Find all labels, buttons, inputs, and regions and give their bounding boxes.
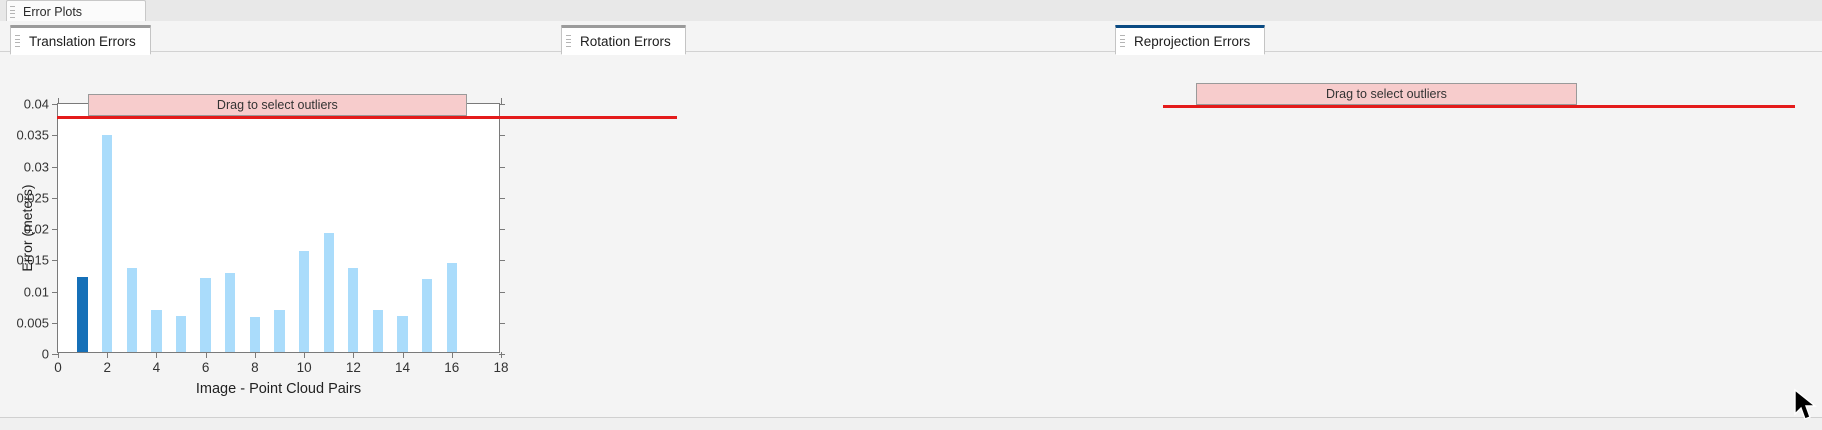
bar[interactable] [348,268,358,352]
panel-translation-errors: Translation Errors 00.0050.010.0150.020.… [0,21,551,430]
y-axis-tick [52,167,58,168]
bar[interactable] [324,233,334,352]
y-axis-tick [499,292,505,293]
y-axis-tick-label: 0.005 [16,315,49,330]
x-axis-tick [403,352,404,358]
y-axis-tick [52,260,58,261]
y-axis-tick-label: 0 [42,347,49,362]
drag-grip-icon[interactable] [1120,35,1125,47]
tab-error-plots[interactable]: Error Plots [6,0,146,22]
bar[interactable] [77,277,87,352]
bars-translation-errors[interactable] [58,104,499,352]
x-axis-tick [107,352,108,358]
y-axis-tick [52,229,58,230]
y-axis-tick [52,292,58,293]
x-axis-tick-label: 0 [54,360,62,375]
error-plots-window: Error Plots Translation Errors 00.0050.0… [0,0,1822,430]
y-axis-tick [499,198,505,199]
x-axis-tick [304,352,305,358]
bar[interactable] [373,310,383,352]
bar[interactable] [151,310,161,352]
drag-grip-icon[interactable] [566,35,571,47]
tab-error-plots-label: Error Plots [23,5,82,19]
x-axis-tick [501,98,502,104]
drag-grip-icon[interactable] [15,35,20,47]
bar[interactable] [299,251,309,352]
threshold-line-rotation[interactable] [1163,105,1795,108]
tab-translation-errors-label: Translation Errors [29,34,136,49]
axes-translation-errors[interactable]: 00.0050.010.0150.020.0250.030.0350.04024… [57,103,500,353]
tab-reprojection-errors-label: Reprojection Errors [1134,34,1250,49]
x-axis-tick-label: 14 [395,360,410,375]
bar[interactable] [274,310,284,353]
x-axis-tick [58,352,59,358]
bar[interactable] [102,135,112,352]
x-axis-tick [206,352,207,358]
panel-2-tab-row: Rotation Errors [551,21,1105,52]
bar[interactable] [397,316,407,352]
x-axis-tick [452,352,453,358]
status-bar [0,417,1822,430]
x-axis-title-translation: Image - Point Cloud Pairs [196,381,361,397]
x-axis-tick [156,352,157,358]
plot-translation-errors: 00.0050.010.0150.020.0250.030.0350.04024… [0,51,551,430]
bar[interactable] [250,317,260,352]
panel-rotation-errors: Rotation Errors 00.511.522.533.502468101… [551,21,1105,430]
x-axis-tick [353,352,354,358]
y-axis-tick-label: 0.03 [24,159,49,174]
y-axis-tick-label: 0.035 [16,128,49,143]
bar[interactable] [447,263,457,352]
panel-3-tab-row: Reprojection Errors [1105,21,1822,52]
tab-rotation-errors-label: Rotation Errors [580,34,671,49]
outlier-drag-band-rotation[interactable]: Drag to select outliers [1196,83,1578,105]
x-axis-tick-label: 4 [153,360,161,375]
panel-container: Translation Errors 00.0050.010.0150.020.… [0,21,1822,430]
threshold-line-translation[interactable] [57,116,677,119]
y-axis-tick-label: 0.01 [24,284,49,299]
y-axis-tick [52,135,58,136]
outer-tab-strip: Error Plots [0,0,1822,22]
bar[interactable] [225,273,235,352]
panel-1-tab-row: Translation Errors [0,21,551,52]
x-axis-tick-label: 18 [493,360,508,375]
outlier-drag-band-translation[interactable]: Drag to select outliers [88,94,467,116]
y-axis-title-translation: Error (meters) [19,184,35,271]
plot-rotation-errors: 00.511.522.533.5024681012141618 Drag to … [551,51,1105,430]
y-axis-tick [499,354,505,355]
y-axis-tick-label: 0.04 [24,97,49,112]
y-axis-tick [52,198,58,199]
bar[interactable] [422,279,432,352]
x-axis-tick [58,98,59,104]
y-axis-tick [499,260,505,261]
x-axis-tick-label: 12 [346,360,361,375]
x-axis-tick-label: 8 [251,360,259,375]
bar[interactable] [176,316,186,352]
outlier-band-label: Drag to select outliers [1326,87,1447,101]
y-axis-tick [499,135,505,136]
y-axis-tick [499,229,505,230]
bar[interactable] [127,268,137,352]
x-axis-tick [255,352,256,358]
outlier-band-label: Drag to select outliers [217,98,338,112]
drag-grip-icon[interactable] [10,6,15,18]
y-axis-tick [52,104,58,105]
x-axis-tick [501,352,502,358]
bar[interactable] [200,278,210,352]
y-axis-tick [499,104,505,105]
x-axis-tick-label: 6 [202,360,210,375]
y-axis-tick [499,323,505,324]
y-axis-tick [52,323,58,324]
y-axis-tick [499,167,505,168]
x-axis-tick-label: 16 [444,360,459,375]
x-axis-tick-label: 10 [297,360,312,375]
x-axis-tick-label: 2 [103,360,111,375]
